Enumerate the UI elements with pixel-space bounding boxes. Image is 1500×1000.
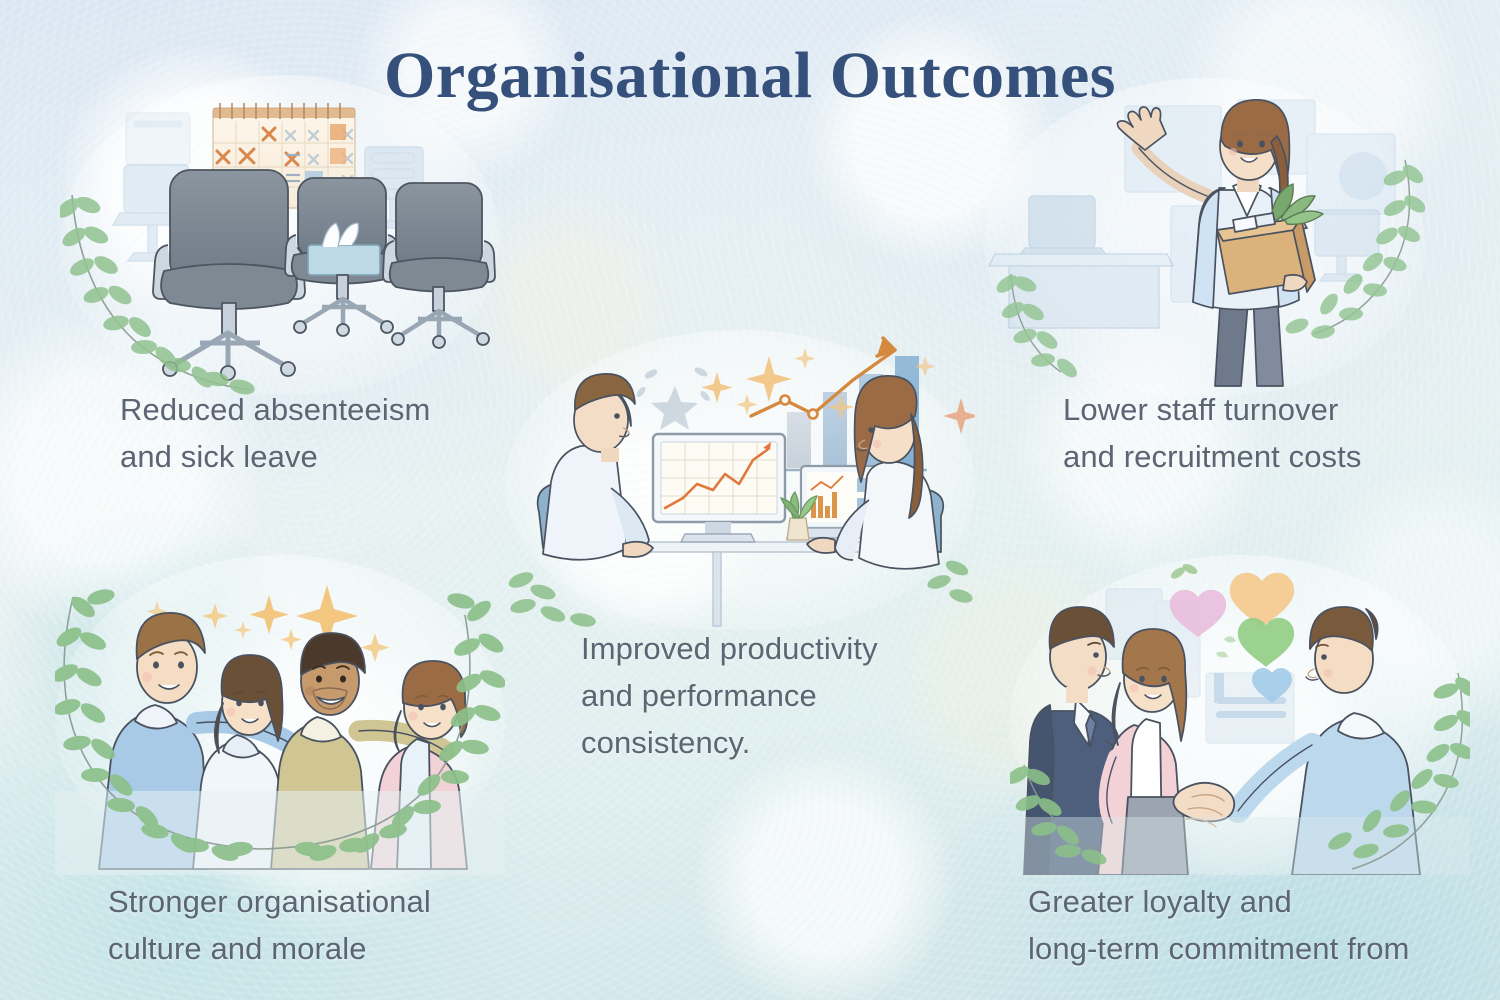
caption-lower-staff-turnover: Lower staff turnover and recruitment cos… (1063, 386, 1361, 480)
empty-office-chairs-illustration (60, 75, 500, 395)
illustration-reduced-absenteeism (60, 75, 500, 395)
team-at-computers-illustration (505, 330, 975, 630)
caption-greater-loyalty: Greater loyalty and long-term commitment… (1028, 878, 1409, 972)
caption-stronger-culture: Stronger organisational culture and mora… (108, 878, 431, 972)
caption-reduced-absenteeism: Reduced absenteeism and sick leave (120, 386, 430, 480)
page-title: Organisational Outcomes (0, 38, 1500, 114)
infographic-poster: Organisational Outcomes Reduced absentee… (0, 0, 1500, 1000)
monitor (653, 434, 785, 542)
illustration-stronger-culture (55, 555, 505, 875)
illustration-greater-loyalty (1010, 555, 1470, 875)
illustration-lower-staff-turnover (985, 78, 1425, 396)
illustration-improved-productivity (505, 330, 975, 630)
handshake-illustration (1010, 555, 1470, 875)
employee-leaving-with-box-illustration (985, 78, 1425, 396)
happy-diverse-team-illustration (55, 555, 505, 875)
caption-improved-productivity: Improved productivity and performance co… (581, 625, 878, 766)
